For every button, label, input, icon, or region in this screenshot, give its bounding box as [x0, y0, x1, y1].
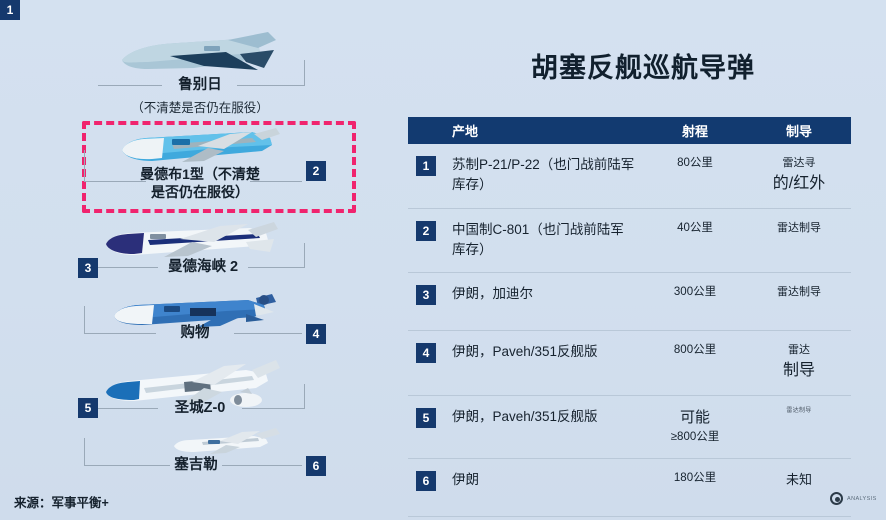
cell-origin: 伊朗，Paveh/351反舰版	[444, 407, 643, 427]
row-number-cell: 1	[408, 155, 444, 176]
connector-line	[304, 60, 305, 86]
cell-range: 180公里	[643, 470, 747, 487]
diagram-badge-5[interactable]: 5	[78, 398, 98, 418]
connector-line	[98, 408, 158, 409]
connector-line	[84, 465, 170, 466]
publisher-logo: ANALYSIS	[830, 492, 877, 505]
table-header-origin: 产地	[444, 121, 643, 140]
connector-line	[84, 306, 85, 334]
connector-line	[242, 408, 304, 409]
connector-line	[84, 438, 85, 466]
diagram-badge-1[interactable]: 1	[0, 0, 20, 20]
row-number-cell: 2	[408, 220, 444, 241]
table-header-guidance: 制导	[747, 121, 851, 140]
diagram-badge-4[interactable]: 4	[306, 324, 326, 344]
table-header-range: 射程	[643, 121, 747, 140]
diagram-label-6: 塞吉勒	[170, 456, 222, 474]
connector-line	[84, 333, 156, 334]
connector-line	[84, 150, 85, 182]
connector-line	[98, 85, 162, 86]
connector-line	[98, 267, 158, 268]
cell-guidance-line1: 雷达制导	[747, 284, 851, 301]
cell-range: 40公里	[643, 220, 747, 237]
cell-guidance-line1: 未知	[747, 470, 851, 490]
cell-origin: 伊朗	[444, 470, 643, 490]
cell-guidance-line1: 雷达制导	[747, 407, 851, 416]
cell-guidance: 雷达寻 的/红外	[747, 155, 851, 196]
connector-line	[304, 243, 305, 268]
cell-range-primary: 可能	[643, 407, 747, 430]
connector-line	[304, 384, 305, 409]
row-number-cell: 5	[408, 407, 444, 428]
row-number-cell: 3	[408, 284, 444, 305]
missile-specs-table: 产地 射程 制导 1 苏制P-21/P-22（也门战前陆军库存） 80公里 雷达…	[408, 117, 851, 517]
cell-range: 800公里	[643, 342, 747, 359]
row-number-cell: 4	[408, 342, 444, 363]
logo-circle-icon	[830, 492, 843, 505]
row-badge: 3	[416, 285, 436, 305]
cell-guidance-line2: 的/红外	[747, 172, 851, 196]
cell-range: 80公里	[643, 155, 747, 172]
missile-illustration-rubezh	[108, 26, 280, 82]
table-row[interactable]: 1 苏制P-21/P-22（也门战前陆军库存） 80公里 雷达寻 的/红外	[408, 144, 851, 209]
diagram-badge-2[interactable]: 2	[306, 161, 326, 181]
cell-origin: 苏制P-21/P-22（也门战前陆军库存）	[444, 155, 643, 196]
diagram-badge-3-label: 3	[85, 262, 92, 274]
diagram-label-3: 曼德海峡 2	[158, 258, 248, 276]
diagram-label-1: 鲁别日	[160, 76, 240, 94]
diagram-badge-5-label: 5	[85, 402, 92, 414]
diagram-label-5: 圣城Z-0	[158, 399, 242, 417]
row-number-cell: 6	[408, 470, 444, 491]
logo-text: ANALYSIS	[847, 496, 877, 502]
row-badge: 2	[416, 221, 436, 241]
diagram-badge-1-label: 1	[7, 4, 14, 16]
cell-origin: 伊朗，加迪尔	[444, 284, 643, 304]
connector-line	[222, 465, 302, 466]
diagram-badge-4-label: 4	[313, 328, 320, 340]
table-row[interactable]: 3 伊朗，加迪尔 300公里 雷达制导	[408, 273, 851, 331]
row-badge: 1	[416, 156, 436, 176]
cell-guidance: 未知	[747, 470, 851, 490]
table-row[interactable]: 6 伊朗 180公里 未知	[408, 459, 851, 517]
diagram-badge-6[interactable]: 6	[306, 456, 326, 476]
table-header-row: 产地 射程 制导	[408, 117, 851, 144]
row-badge: 5	[416, 408, 436, 428]
table-row[interactable]: 5 伊朗，Paveh/351反舰版 可能 ≥800公里 雷达制导	[408, 396, 851, 460]
cell-guidance: 雷达 制导	[747, 342, 851, 383]
cell-guidance-line2: 制导	[747, 359, 851, 383]
cell-range-secondary: ≥800公里	[643, 429, 747, 446]
source-note: 来源：军事平衡+	[14, 492, 109, 511]
connector-line	[237, 85, 305, 86]
row-badge: 6	[416, 471, 436, 491]
cell-guidance: 雷达制导	[747, 407, 851, 416]
data-panel: 胡塞反舰巡航导弹 产地 射程 制导 1 苏制P-21/P-22（也门战前陆军库存…	[400, 0, 886, 520]
table-row[interactable]: 2 中国制C-801（也门战前陆军库存） 40公里 雷达制导	[408, 209, 851, 274]
diagram-sublabel-1: （不清楚是否仍在服役）	[90, 97, 310, 116]
page-title: 胡塞反舰巡航导弹	[408, 46, 878, 85]
cell-origin: 伊朗，Paveh/351反舰版	[444, 342, 643, 362]
row-badge: 4	[416, 343, 436, 363]
infographic-canvas: 1 鲁别日 （不清楚是否仍在服役） 2 曼德布1型（不清楚是否仍在服役）	[0, 0, 886, 520]
cell-range: 可能 ≥800公里	[643, 407, 747, 447]
diagram-badge-2-label: 2	[313, 165, 320, 177]
cell-guidance-line1: 雷达制导	[747, 220, 851, 237]
diagram-label-4: 购物	[156, 324, 234, 342]
diagram-badge-6-label: 6	[313, 460, 320, 472]
cell-origin: 中国制C-801（也门战前陆军库存）	[444, 220, 643, 261]
cell-guidance: 雷达制导	[747, 284, 851, 301]
connector-line	[248, 267, 304, 268]
missile-diagram-panel: 1 鲁别日 （不清楚是否仍在服役） 2 曼德布1型（不清楚是否仍在服役）	[0, 0, 390, 520]
cell-guidance: 雷达制导	[747, 220, 851, 237]
diagram-badge-3[interactable]: 3	[78, 258, 98, 278]
diagram-label-2: 曼德布1型（不清楚是否仍在服役）	[135, 166, 265, 201]
cell-guidance-line1: 雷达寻	[747, 155, 851, 172]
cell-guidance-line1: 雷达	[747, 342, 851, 359]
table-row[interactable]: 4 伊朗，Paveh/351反舰版 800公里 雷达 制导	[408, 331, 851, 396]
connector-line	[234, 333, 302, 334]
cell-range: 300公里	[643, 284, 747, 301]
